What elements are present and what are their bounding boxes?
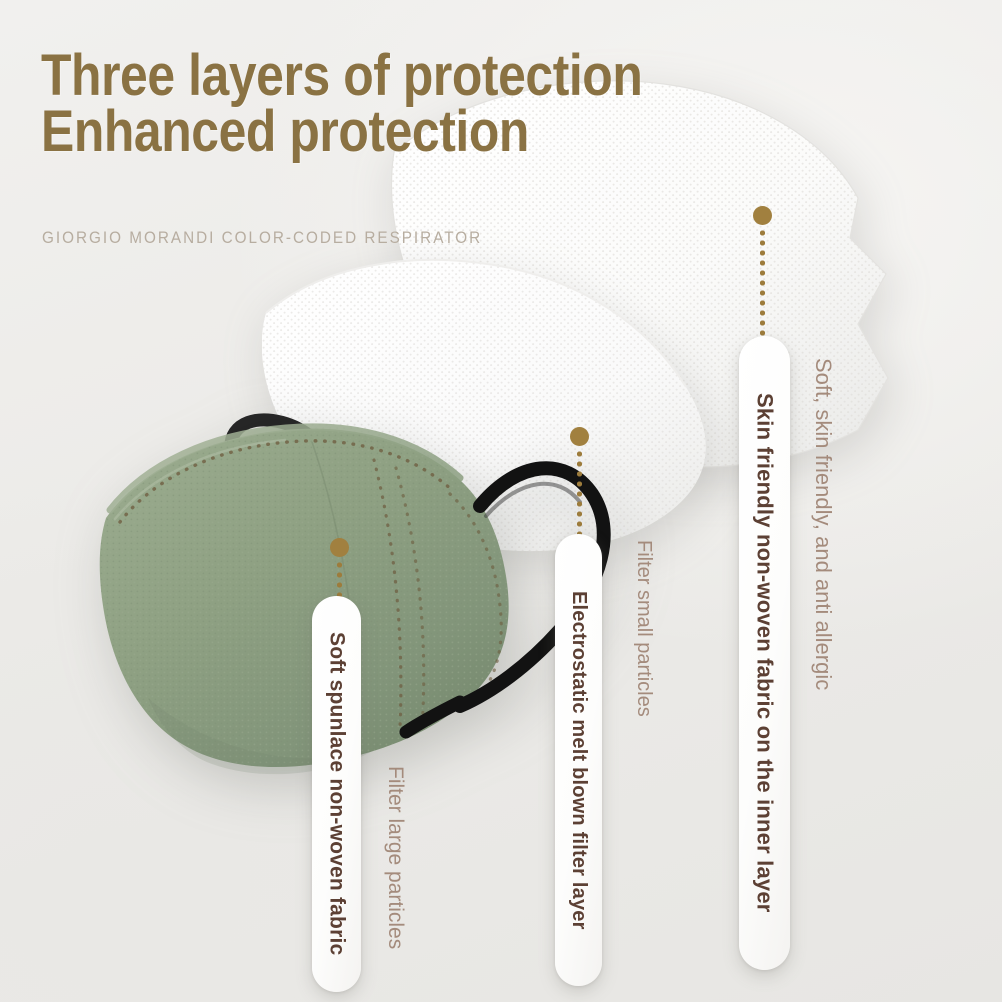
callout-dot-3 (753, 206, 772, 225)
callout-sub-1-label: Filter large particles (383, 766, 407, 949)
callout-connector-2 (577, 449, 582, 537)
product-poster: Three layers of protection Enhanced prot… (0, 0, 1002, 1002)
subtitle-text: GIORGIO MORANDI COLOR-CODED RESPIRATOR (42, 228, 482, 248)
callout-dot-1 (330, 538, 349, 557)
callout-pill-1[interactable]: Soft spunlace non-woven fabric (312, 596, 361, 992)
headline-block: Three layers of protection Enhanced prot… (41, 48, 740, 160)
callout-dot-2 (570, 427, 589, 446)
callout-pill-3[interactable]: Skin friendly non-woven fabric on the in… (739, 336, 790, 970)
callout-pill-2-label: Electrostatic melt blown filter layer (567, 591, 590, 930)
callout-pill-1-label: Soft spunlace non-woven fabric (325, 632, 349, 955)
callout-connector-3 (760, 228, 765, 340)
callout-pill-3-label: Skin friendly non-woven fabric on the in… (752, 393, 778, 913)
callout-pill-2[interactable]: Electrostatic melt blown filter layer (555, 534, 602, 986)
headline-line-2: Enhanced protection (41, 104, 642, 160)
headline-line-1: Three layers of protection (41, 48, 642, 104)
callout-connector-1 (337, 560, 342, 598)
callout-sub-2-label: Filter small particles (632, 540, 655, 717)
callout-sub-3-label: Soft, skin friendly, and anti allergic (810, 358, 836, 690)
